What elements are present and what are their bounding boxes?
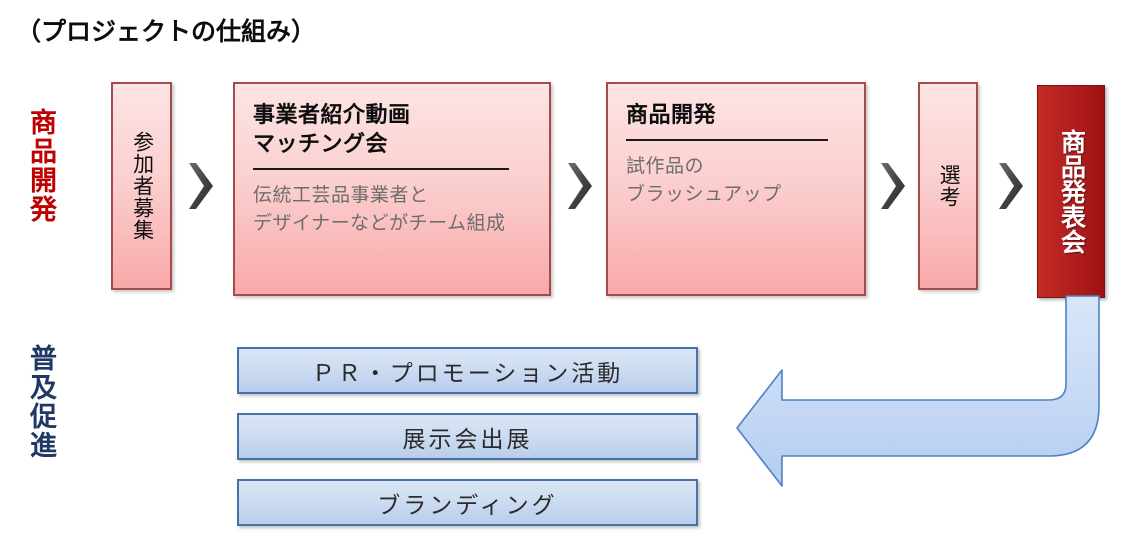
- chevron-right-icon: [565, 162, 595, 210]
- row-label-product-development: 商品開発: [24, 108, 57, 224]
- process-step-matching[interactable]: 事業者紹介動画 マッチング会 伝統工芸品事業者と デザイナーなどがチーム組成: [233, 82, 551, 296]
- chevron-right-icon: [186, 162, 216, 210]
- row-label-promotion: 普及促進: [24, 344, 57, 460]
- divider: [253, 168, 509, 170]
- promotion-item-branding-label: ブランディング: [377, 486, 557, 520]
- process-step-matching-title: 事業者紹介動画: [253, 100, 531, 129]
- process-step-announcement-label: 商品発表会: [1057, 129, 1086, 254]
- page-title: （プロジェクトの仕組み）: [16, 12, 316, 48]
- promotion-item-expo-label: 展示会出展: [403, 420, 533, 454]
- process-step-matching-body2: デザイナーなどがチーム組成: [253, 210, 531, 238]
- process-step-entry-textwrap: 参加者募集: [113, 84, 170, 288]
- promotion-item-pr[interactable]: ＰＲ・プロモーション活動: [237, 347, 698, 394]
- chevron-right-icon: [878, 162, 908, 210]
- divider: [626, 139, 828, 141]
- promotion-item-pr-label: ＰＲ・プロモーション活動: [312, 354, 624, 388]
- curved-left-arrow-icon: [735, 296, 1110, 492]
- process-step-product-development-body1: 試作品の: [626, 153, 846, 181]
- process-step-announcement[interactable]: 商品発表会: [1037, 85, 1105, 298]
- chevron-right-icon: [996, 162, 1026, 210]
- process-step-entry[interactable]: 参加者募集: [111, 82, 172, 290]
- promotion-item-branding[interactable]: ブランディング: [237, 479, 698, 526]
- process-step-product-development-body2: ブラッシュアップ: [626, 181, 846, 209]
- process-step-screening-label: 選考: [936, 164, 960, 208]
- promotion-item-expo[interactable]: 展示会出展: [237, 413, 698, 460]
- process-step-screening[interactable]: 選考: [918, 82, 978, 290]
- process-step-entry-label: 参加者募集: [129, 131, 153, 241]
- process-step-screening-textwrap: 選考: [920, 84, 976, 288]
- process-step-product-development[interactable]: 商品開発 試作品の ブラッシュアップ: [606, 82, 866, 296]
- process-step-product-development-title: 商品開発: [626, 100, 846, 129]
- process-step-matching-body1: 伝統工芸品事業者と: [253, 182, 531, 210]
- process-step-matching-title2: マッチング会: [253, 129, 531, 158]
